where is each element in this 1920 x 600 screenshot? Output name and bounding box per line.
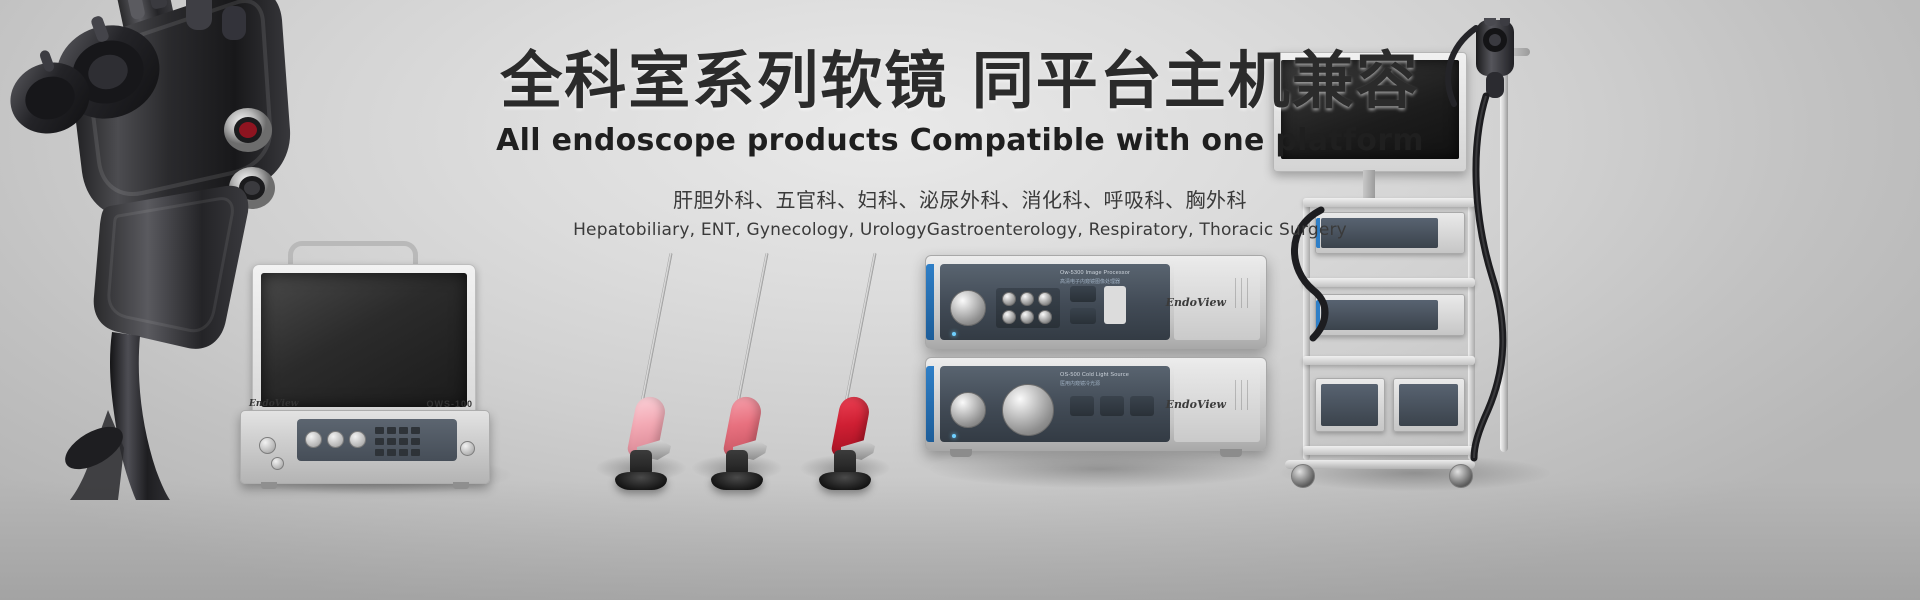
banner-subhead-en: All endoscope products Compatible with o… bbox=[0, 123, 1920, 158]
image-processor-key-3[interactable] bbox=[1038, 292, 1052, 306]
cold-light-foot-right bbox=[1220, 449, 1242, 457]
image-processor-power-led bbox=[952, 332, 956, 336]
workstation-knob-2[interactable] bbox=[271, 457, 284, 470]
rigid-scope-shaft bbox=[737, 252, 769, 400]
workstation-panel-knob-3[interactable] bbox=[349, 431, 366, 448]
workstation-key-5[interactable] bbox=[375, 438, 384, 445]
rigid-scope-shaft bbox=[845, 252, 877, 400]
image-processor-usb-port[interactable] bbox=[1104, 286, 1126, 324]
banner-headline-cn: 全科室系列软镜 同平台主机兼容 bbox=[0, 48, 1920, 115]
workstation-key-8[interactable] bbox=[411, 438, 420, 445]
image-processor-vent-1 bbox=[1247, 278, 1248, 308]
image-processor-key-6[interactable] bbox=[1038, 310, 1052, 324]
image-processor-title-en: Ow-5300 Image Processor bbox=[1060, 270, 1130, 276]
image-processor-brand: EndoView bbox=[1166, 296, 1226, 309]
image-processor-vent-3 bbox=[1235, 278, 1236, 308]
cold-light-power-led bbox=[952, 434, 956, 438]
image-processor-title-cn: 高清电子内窥镜图像处理器 bbox=[1060, 278, 1120, 285]
workstation-base-unit: EndoView OWS-100 bbox=[240, 410, 490, 484]
workstation-panel-knob-1[interactable] bbox=[305, 431, 322, 448]
cold-light-button-1[interactable] bbox=[1070, 396, 1094, 416]
rigid-endoscope-pink bbox=[596, 250, 686, 495]
banner-text-block: 全科室系列软镜 同平台主机兼容 All endoscope products C… bbox=[0, 48, 1920, 240]
workstation-knob-1[interactable] bbox=[259, 437, 276, 454]
workstation-screen-bezel bbox=[252, 264, 476, 418]
cold-light-accent-stripe bbox=[926, 366, 934, 442]
cold-light-front-panel: OS-500 Cold Light Source 医用内窥镜冷光源 bbox=[940, 366, 1170, 442]
image-processor-button-a[interactable] bbox=[1070, 286, 1096, 302]
workstation-monitor: EndoView OWS-100 bbox=[232, 250, 502, 485]
workstation-key-9[interactable] bbox=[375, 449, 384, 456]
image-processor-main-knob[interactable] bbox=[950, 290, 986, 326]
workstation-foot-left bbox=[261, 482, 277, 489]
cold-light-vent-1 bbox=[1247, 380, 1248, 410]
cold-light-title-cn: 医用内窥镜冷光源 bbox=[1060, 380, 1100, 387]
workstation-control-panel bbox=[297, 419, 457, 461]
workstation-key-2[interactable] bbox=[387, 427, 396, 434]
cart-device-3 bbox=[1315, 378, 1385, 432]
workstation-key-10[interactable] bbox=[387, 449, 396, 456]
workstation-key-1[interactable] bbox=[375, 427, 384, 434]
image-processor-unit: Ow-5300 Image Processor 高清电子内窥镜图像处理器 End… bbox=[925, 255, 1267, 349]
cold-light-brightness-dial[interactable] bbox=[1002, 384, 1054, 436]
rigid-scope-stand bbox=[615, 472, 667, 490]
image-processor-key-2[interactable] bbox=[1020, 292, 1034, 306]
workstation-foot-right bbox=[453, 482, 469, 489]
image-processor-key-1[interactable] bbox=[1002, 292, 1016, 306]
image-processor-front-panel: Ow-5300 Image Processor 高清电子内窥镜图像处理器 bbox=[940, 264, 1170, 340]
banner-departments-cn: 肝胆外科、五官科、妇科、泌尿外科、消化科、呼吸科、胸外科 bbox=[0, 184, 1920, 213]
image-processor-vent-2 bbox=[1241, 278, 1242, 308]
rigid-endoscope-coral bbox=[692, 250, 782, 495]
cold-light-vent-3 bbox=[1235, 380, 1236, 410]
rigid-endoscope-red bbox=[800, 250, 890, 495]
cold-light-title-en: OS-500 Cold Light Source bbox=[1060, 372, 1129, 378]
workstation-power-knob[interactable] bbox=[460, 441, 475, 456]
workstation-key-4[interactable] bbox=[411, 427, 420, 434]
cold-light-foot-left bbox=[950, 449, 972, 457]
workstation-key-7[interactable] bbox=[399, 438, 408, 445]
workstation-key-12[interactable] bbox=[411, 449, 420, 456]
cold-light-brand: EndoView bbox=[1166, 398, 1226, 411]
workstation-key-3[interactable] bbox=[399, 427, 408, 434]
workstation-key-11[interactable] bbox=[399, 449, 408, 456]
cold-light-scope-socket[interactable] bbox=[950, 392, 986, 428]
banner-departments-en: Hepatobiliary, ENT, Gynecology, UrologyG… bbox=[0, 220, 1920, 240]
cold-light-vent-2 bbox=[1241, 380, 1242, 410]
control-unit-stack: Ow-5300 Image Processor 高清电子内窥镜图像处理器 End… bbox=[925, 255, 1270, 465]
workstation-panel-knob-2[interactable] bbox=[327, 431, 344, 448]
image-processor-key-4[interactable] bbox=[1002, 310, 1016, 324]
workstation-display bbox=[261, 273, 467, 407]
image-processor-button-b[interactable] bbox=[1070, 308, 1096, 324]
cold-light-button-2[interactable] bbox=[1100, 396, 1124, 416]
cold-light-button-3[interactable] bbox=[1130, 396, 1154, 416]
workstation-key-6[interactable] bbox=[387, 438, 396, 445]
image-processor-accent-stripe bbox=[926, 264, 934, 340]
endoscope-product-banner: 全科室系列软镜 同平台主机兼容 All endoscope products C… bbox=[0, 0, 1920, 600]
workstation-model-label: OWS-100 bbox=[426, 399, 473, 409]
cart-caster-left[interactable] bbox=[1291, 464, 1315, 488]
rigid-scope-stand bbox=[819, 472, 871, 490]
cart-device-3-panel bbox=[1321, 384, 1378, 426]
rigid-scope-stand bbox=[711, 472, 763, 490]
image-processor-key-5[interactable] bbox=[1020, 310, 1034, 324]
cold-light-source-unit: OS-500 Cold Light Source 医用内窥镜冷光源 EndoVi… bbox=[925, 357, 1267, 451]
workstation-brand-label: EndoView bbox=[249, 399, 298, 409]
rigid-scope-shaft bbox=[641, 252, 673, 400]
